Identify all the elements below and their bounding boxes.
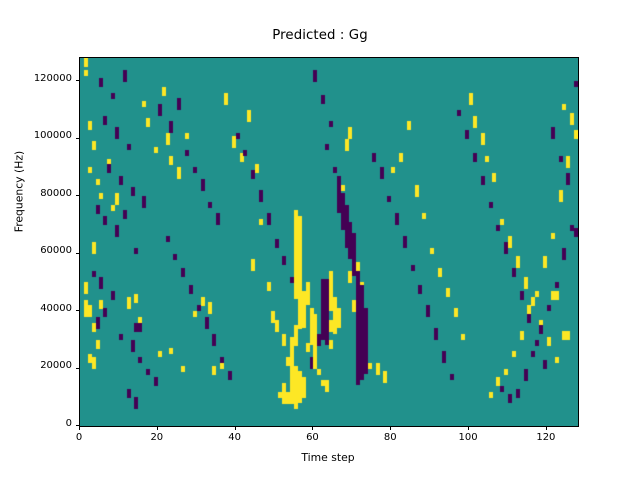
x-tick-label: 80 [384,432,397,443]
x-tick [157,426,158,430]
x-axis-label: Time step [79,451,577,464]
x-tick [546,426,547,430]
matplotlib-figure: Predicted : Gg 020406080100120 020000400… [0,0,640,480]
x-tick-label: 0 [76,432,82,443]
x-tick [312,426,313,430]
heatmap-axes [79,57,579,427]
x-tick-label: 100 [459,432,478,443]
x-tick-label: 20 [150,432,163,443]
x-tick [79,426,80,430]
x-tick [468,426,469,430]
y-tick [76,80,80,81]
y-tick [76,195,80,196]
y-tick [76,253,80,254]
y-tick [76,368,80,369]
x-tick-label: 40 [228,432,241,443]
chart-title: Predicted : Gg [0,28,640,43]
x-tick [390,426,391,430]
y-tick [76,425,80,426]
y-tick [76,310,80,311]
y-axis-label: Frequency (Hz) [13,132,26,252]
heatmap-image [80,58,578,426]
y-tick [76,138,80,139]
x-tick-label: 60 [306,432,319,443]
x-tick-label: 120 [536,432,555,443]
x-tick [235,426,236,430]
